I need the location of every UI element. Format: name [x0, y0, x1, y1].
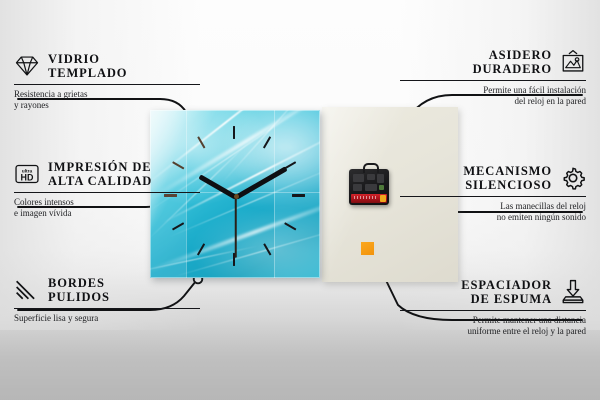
- polished-edges-icon: [14, 277, 40, 303]
- feature-desc-line2: uniforme entre el reloj y la pared: [400, 326, 586, 337]
- battery-plus-terminal: [380, 195, 386, 202]
- feature-vidrio-templado: VIDRIO TEMPLADO Resistencia a grietas y …: [14, 52, 200, 111]
- gear-icon: [560, 165, 586, 191]
- feature-desc-line1: Permite una fácil instalación: [400, 85, 586, 96]
- feature-impresion-alta-calidad: ultra HD IMPRESIÓN DE ALTA CALIDAD Color…: [14, 160, 200, 219]
- divider: [14, 308, 200, 309]
- feature-asidero-duradero: ASIDERO DURADERO Permite una fácil insta…: [400, 48, 586, 107]
- feature-desc-line1: Permite mantener una distancia: [400, 315, 586, 326]
- feature-desc-line1: Superficie lisa y segura: [14, 313, 200, 324]
- infographic-canvas: VIDRIO TEMPLADO Resistencia a grietas y …: [0, 0, 600, 400]
- divider: [14, 192, 200, 193]
- svg-text:HD: HD: [21, 173, 34, 183]
- diamond-icon: [14, 53, 40, 79]
- feature-espaciador-espuma: ESPACIADOR DE ESPUMA Permite mantener un…: [400, 278, 586, 337]
- feature-mecanismo-silencioso: MECANISMO SILENCIOSO Las manecillas del …: [400, 164, 586, 223]
- feature-title: MECANISMO SILENCIOSO: [463, 164, 552, 192]
- feature-desc-line1: Resistencia a grietas: [14, 89, 200, 100]
- clock-mechanism: [349, 169, 389, 205]
- ultra-hd-icon: ultra HD: [14, 161, 40, 187]
- feature-header: ESPACIADOR DE ESPUMA: [400, 278, 586, 306]
- feature-bordes-pulidos: BORDES PULIDOS Superficie lisa y segura: [14, 276, 200, 324]
- mechanism-detail: [365, 184, 377, 191]
- feature-desc-line2: e imagen vívida: [14, 208, 200, 219]
- battery-label: [354, 196, 378, 199]
- feature-desc-line2: del reloj en la pared: [400, 96, 586, 107]
- mechanism-led: [379, 185, 384, 190]
- feature-header: ultra HD IMPRESIÓN DE ALTA CALIDAD: [14, 160, 200, 188]
- mechanism-detail: [377, 174, 384, 183]
- feature-title: BORDES PULIDOS: [48, 276, 110, 304]
- foam-spacer: [361, 242, 374, 255]
- feature-header: ASIDERO DURADERO: [400, 48, 586, 76]
- feature-title: ESPACIADOR DE ESPUMA: [461, 278, 552, 306]
- feature-header: VIDRIO TEMPLADO: [14, 52, 200, 80]
- divider: [14, 84, 200, 85]
- divider: [400, 196, 586, 197]
- feature-title: IMPRESIÓN DE ALTA CALIDAD: [48, 160, 152, 188]
- down-arrow-pad-icon: [560, 279, 586, 305]
- feature-header: BORDES PULIDOS: [14, 276, 200, 304]
- feature-title: VIDRIO TEMPLADO: [48, 52, 127, 80]
- feature-title: ASIDERO DURADERO: [473, 48, 552, 76]
- feature-desc-line1: Colores intensos: [14, 197, 200, 208]
- feature-desc-line1: Las manecillas del reloj: [400, 201, 586, 212]
- feature-desc-line2: no emiten ningún sonido: [400, 212, 586, 223]
- clock-battery: [351, 194, 387, 203]
- wall-hanger-frame-icon: [560, 49, 586, 75]
- mechanism-detail: [353, 174, 364, 182]
- feature-header: MECANISMO SILENCIOSO: [400, 164, 586, 192]
- mechanism-detail: [367, 174, 375, 180]
- divider: [400, 80, 586, 81]
- divider: [400, 310, 586, 311]
- mechanism-hanger-hook: [363, 163, 379, 173]
- mechanism-detail: [353, 184, 362, 191]
- feature-desc-line2: y rayones: [14, 100, 200, 111]
